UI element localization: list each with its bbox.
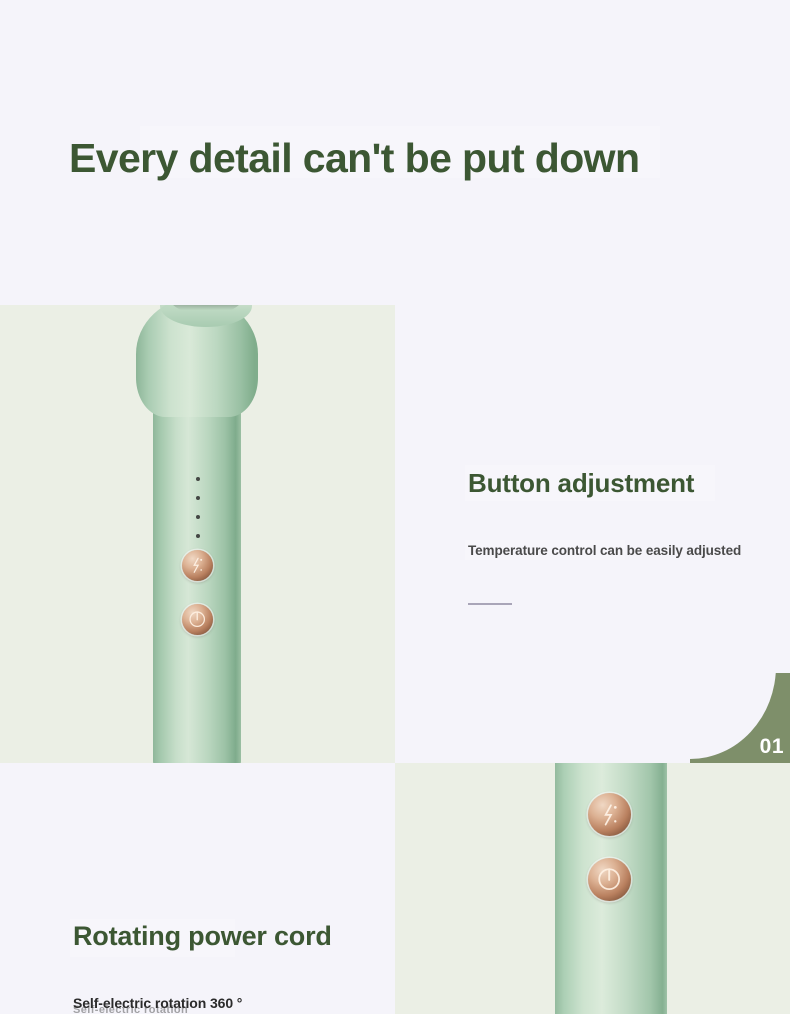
section-1-number-badge: 01 — [690, 673, 790, 763]
section-2-subtitle: Self-electric rotation 360 ° — [73, 995, 242, 1011]
section-1-number-label: 01 — [760, 736, 784, 757]
section-2-image-panel — [395, 763, 790, 1014]
led-indicator-dot — [196, 477, 200, 481]
section-1-subtitle: Temperature control can be easily adjust… — [468, 543, 741, 558]
led-indicator-dot — [196, 496, 200, 500]
section-2-text-panel: Rotating power cord Self-electric rotati… — [0, 763, 395, 1014]
product-detail-page: Every detail can't be put down — [0, 0, 790, 1014]
power-icon — [187, 609, 207, 629]
led-indicator-dot — [196, 534, 200, 538]
section-1-divider-rule — [468, 603, 512, 605]
power-icon — [595, 865, 623, 893]
product-image-hair-dryer-closeup — [555, 763, 667, 1014]
section-1-image-panel — [0, 305, 395, 763]
led-indicator-dot — [196, 515, 200, 519]
led-indicator-group — [193, 477, 203, 553]
section-2-heading: Rotating power cord — [73, 921, 332, 952]
temperature-button-closeup[interactable] — [588, 793, 631, 836]
temperature-icon — [597, 802, 623, 828]
page-header: Every detail can't be put down — [0, 0, 790, 305]
temperature-button[interactable] — [182, 550, 213, 581]
power-button-closeup[interactable] — [588, 858, 631, 901]
power-button[interactable] — [182, 604, 213, 635]
section-1-heading: Button adjustment — [468, 468, 694, 499]
page-title: Every detail can't be put down — [69, 133, 639, 184]
temperature-icon — [188, 556, 207, 575]
product-image-hair-dryer — [120, 305, 272, 763]
